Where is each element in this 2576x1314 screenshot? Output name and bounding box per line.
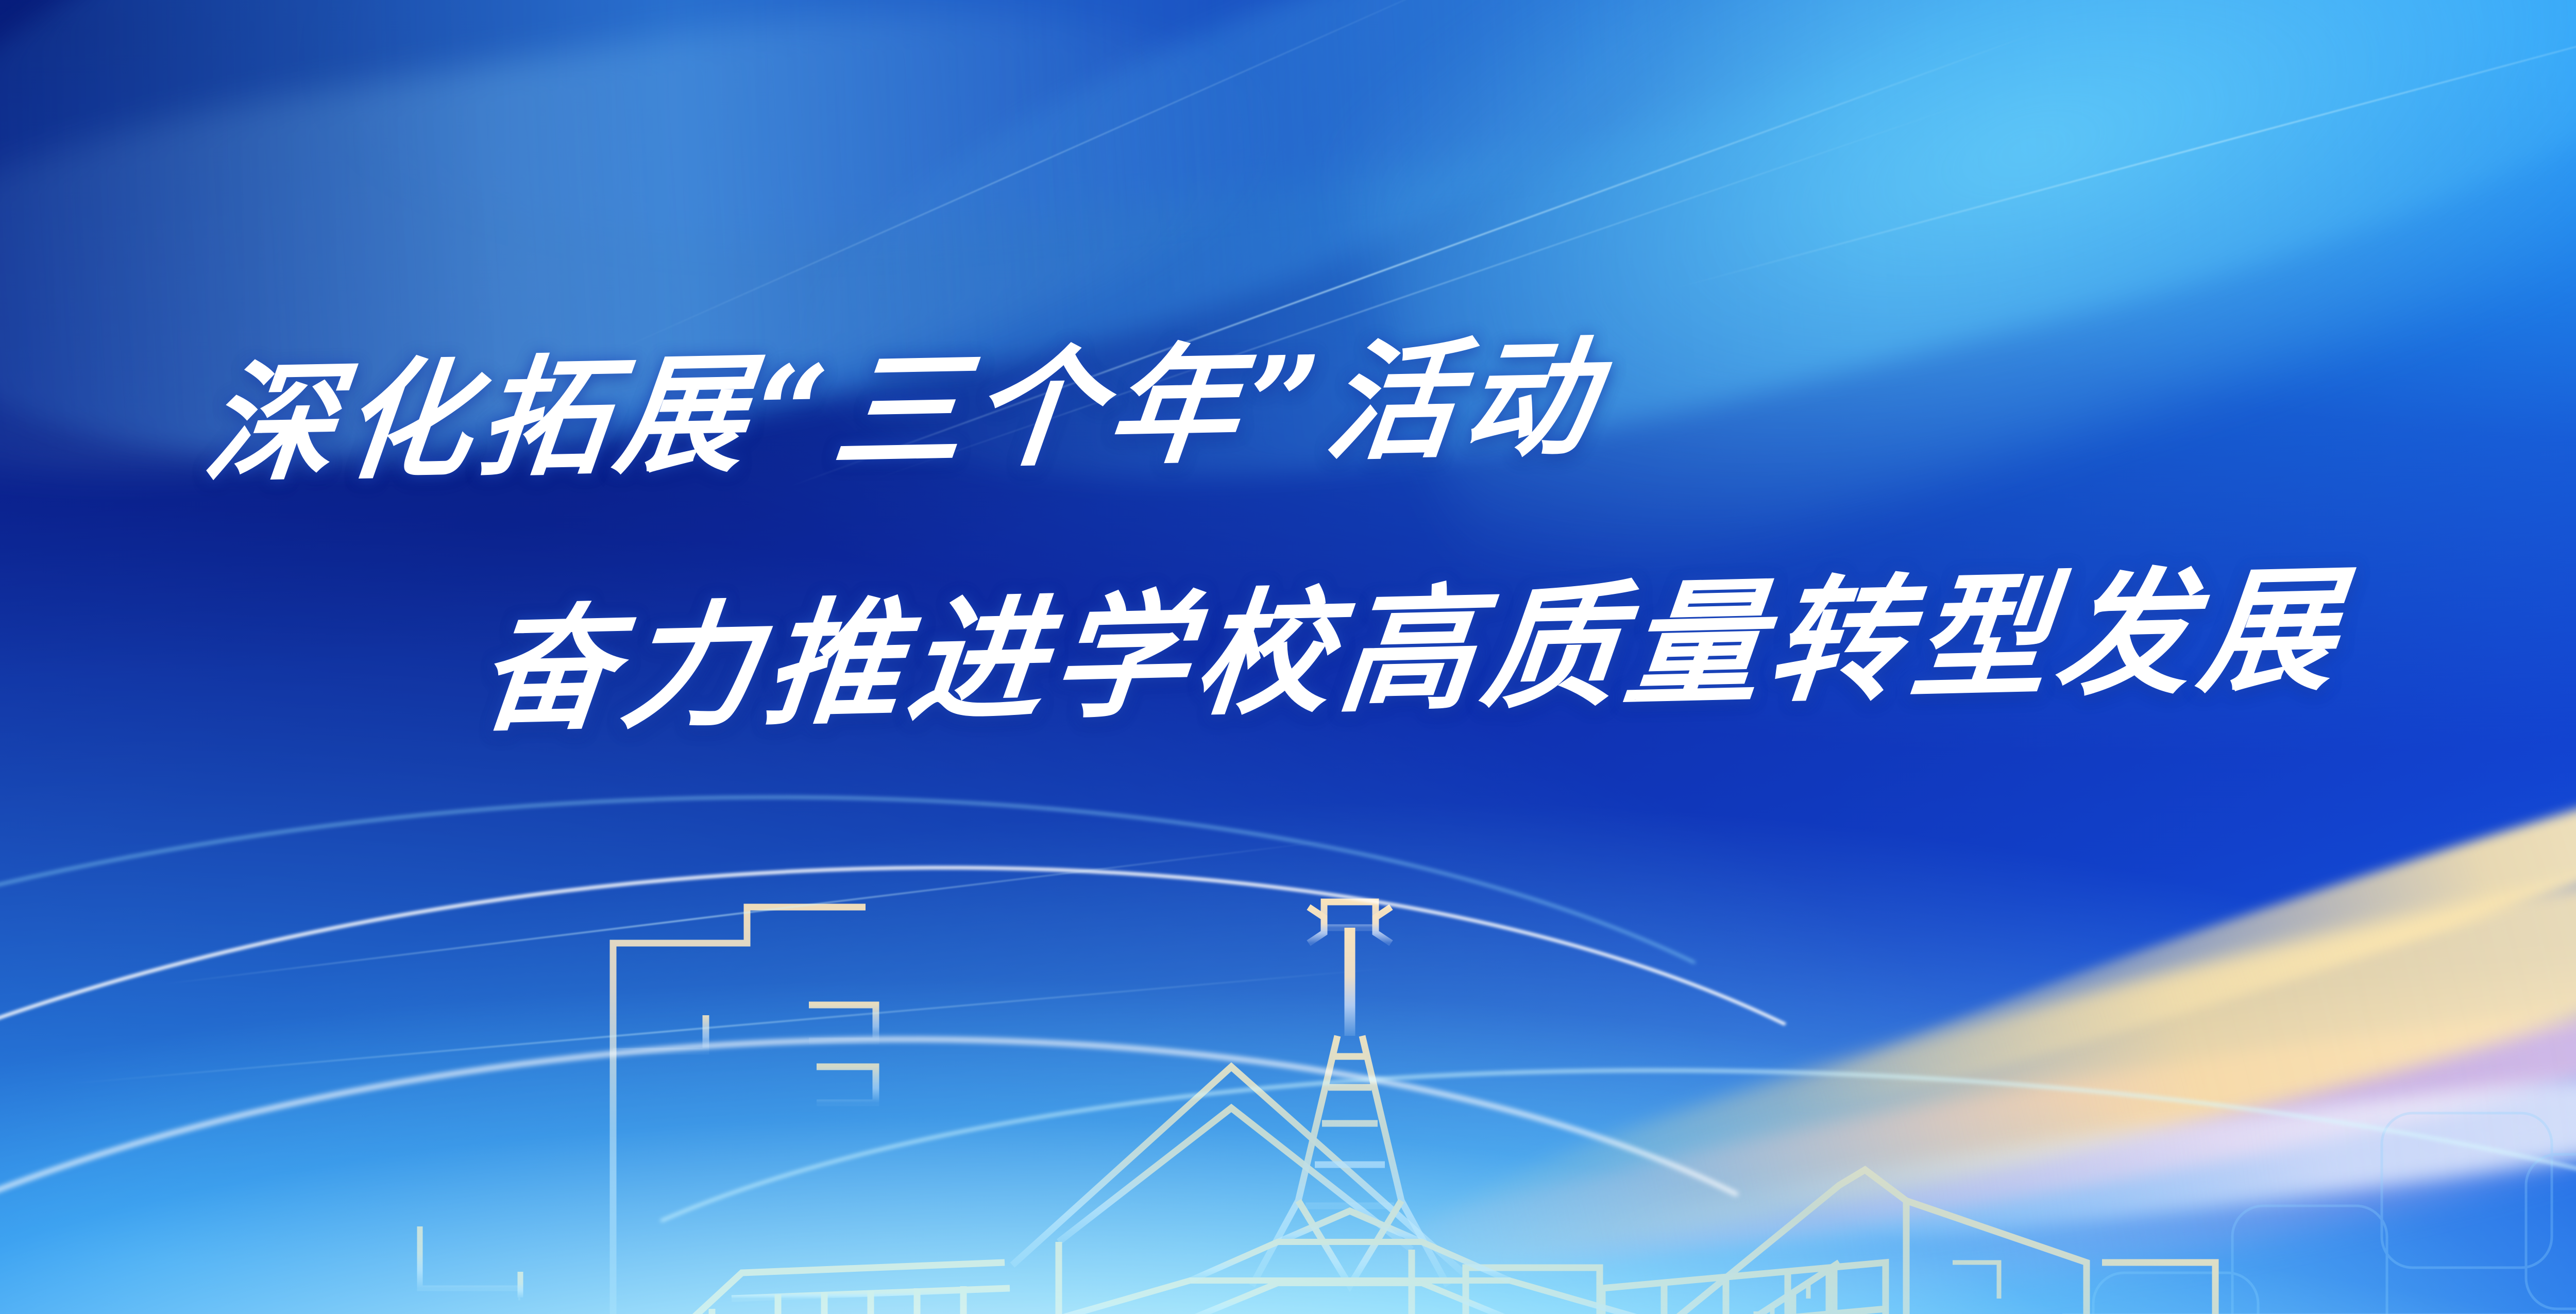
title-line-1-after-quote: 活动 <box>1320 321 1609 478</box>
title-line-1-before-quote: 深化拓展 <box>198 338 761 500</box>
banner-title-line-1: 深化拓展“三个年”活动 <box>199 328 1608 493</box>
title-close-quote: ” <box>1238 327 1336 480</box>
title-open-quote: “ <box>745 336 843 489</box>
banner-title-line-2: 奋力推进学校高质量转型发展 <box>472 556 2351 744</box>
banner-root: 深化拓展“三个年”活动 奋力推进学校高质量转型发展 <box>0 0 2576 1314</box>
title-quoted-text: 三个年 <box>827 328 1253 487</box>
banner-title-block: 深化拓展“三个年”活动 奋力推进学校高质量转型发展 <box>0 0 2576 1314</box>
